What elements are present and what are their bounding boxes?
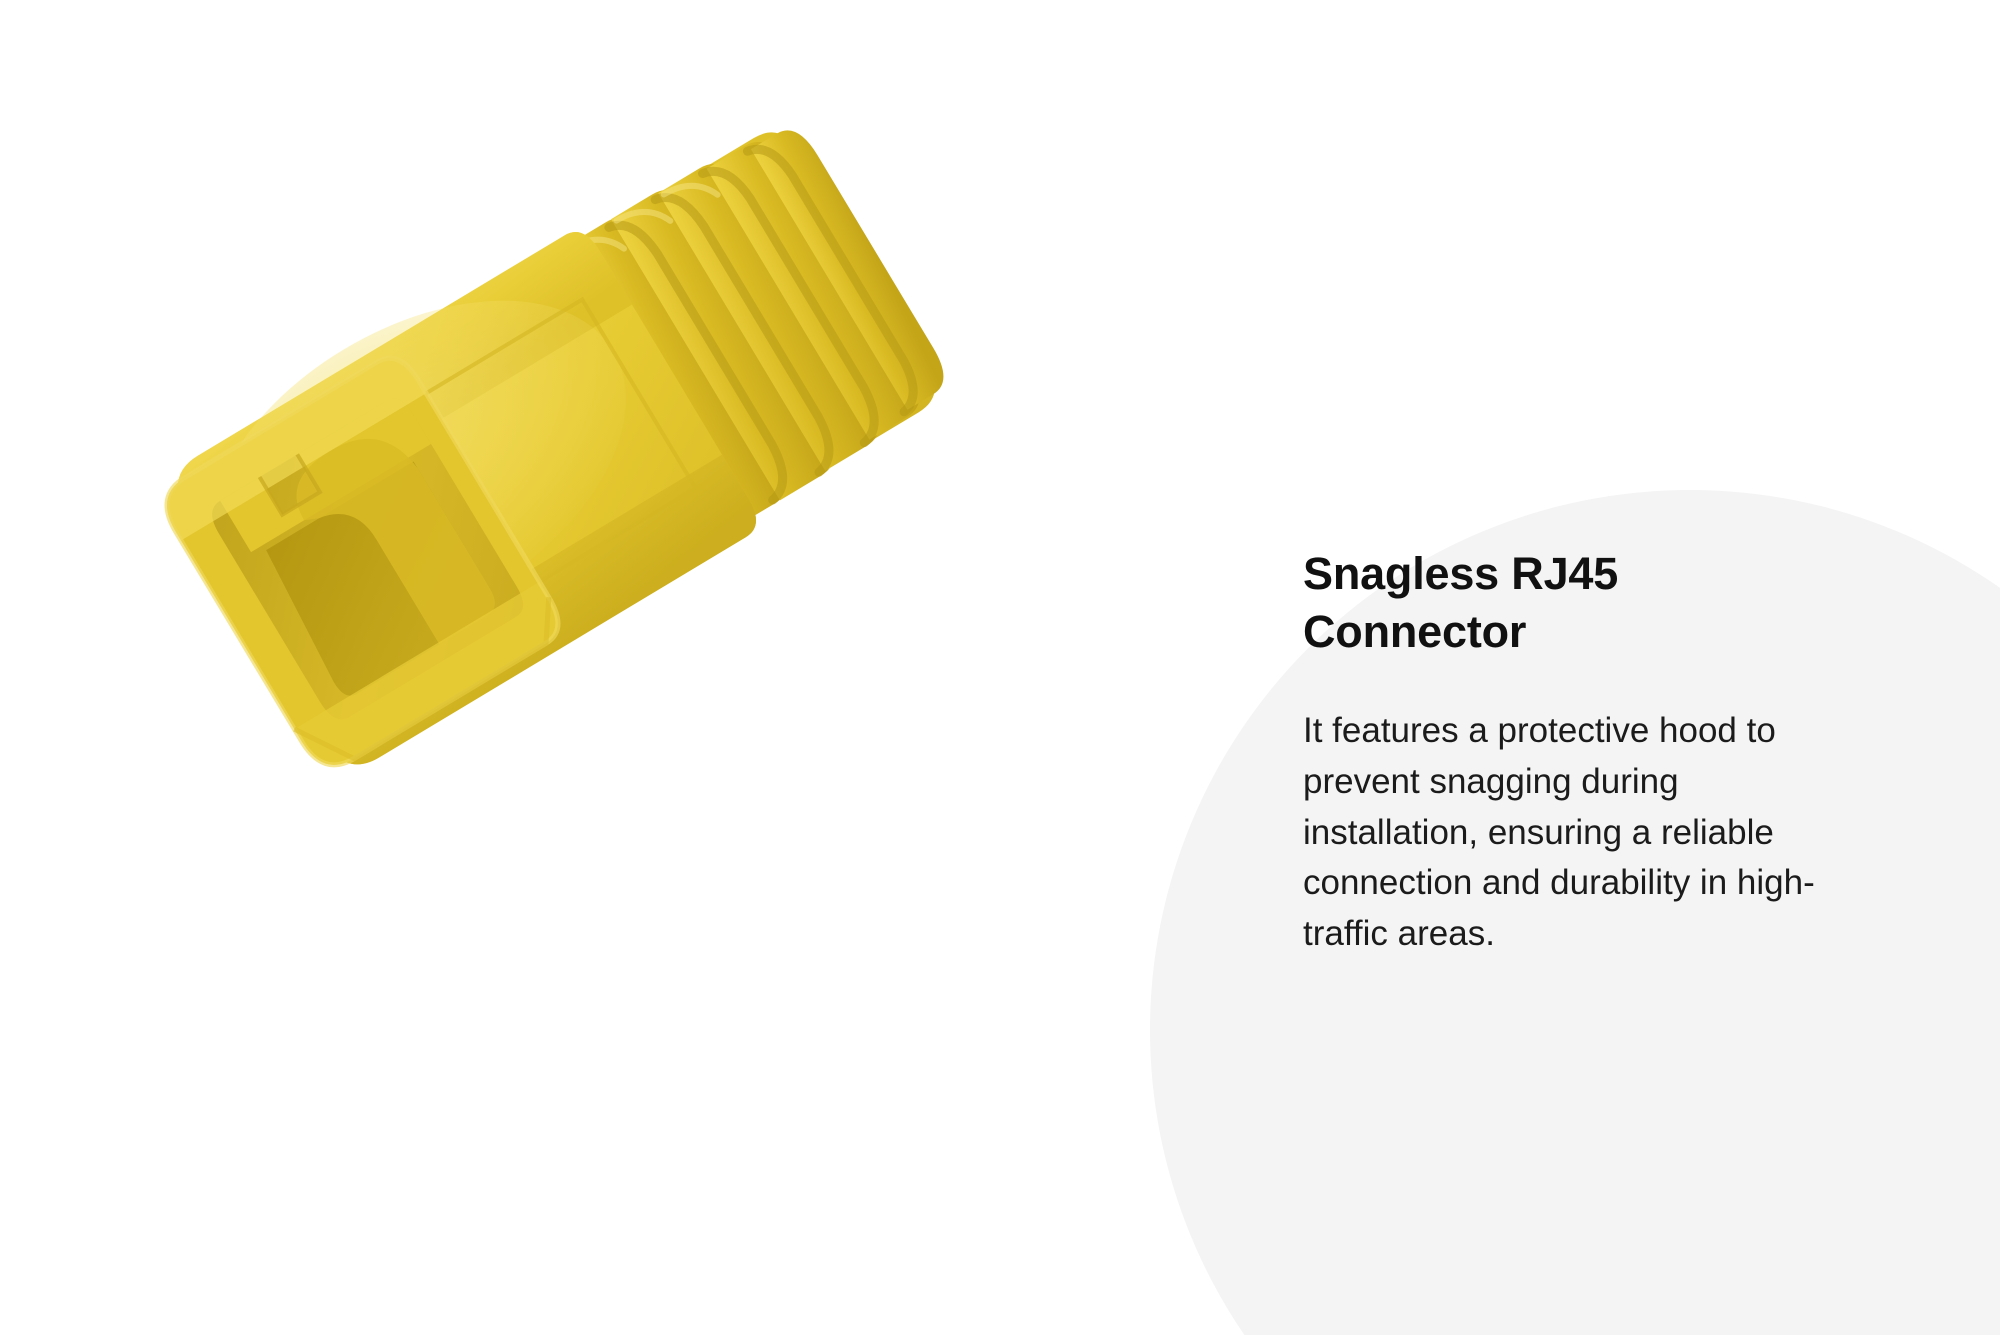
rj45-boot-illustration (60, 60, 960, 880)
boot-body-group (140, 89, 960, 788)
product-description: It features a protective hood to prevent… (1303, 706, 1823, 960)
product-card: Snagless RJ45 Connector It features a pr… (0, 0, 2000, 1335)
product-text-panel: Snagless RJ45 Connector It features a pr… (1303, 545, 1863, 960)
product-image (60, 60, 960, 880)
page-title: Snagless RJ45 Connector (1303, 545, 1703, 660)
